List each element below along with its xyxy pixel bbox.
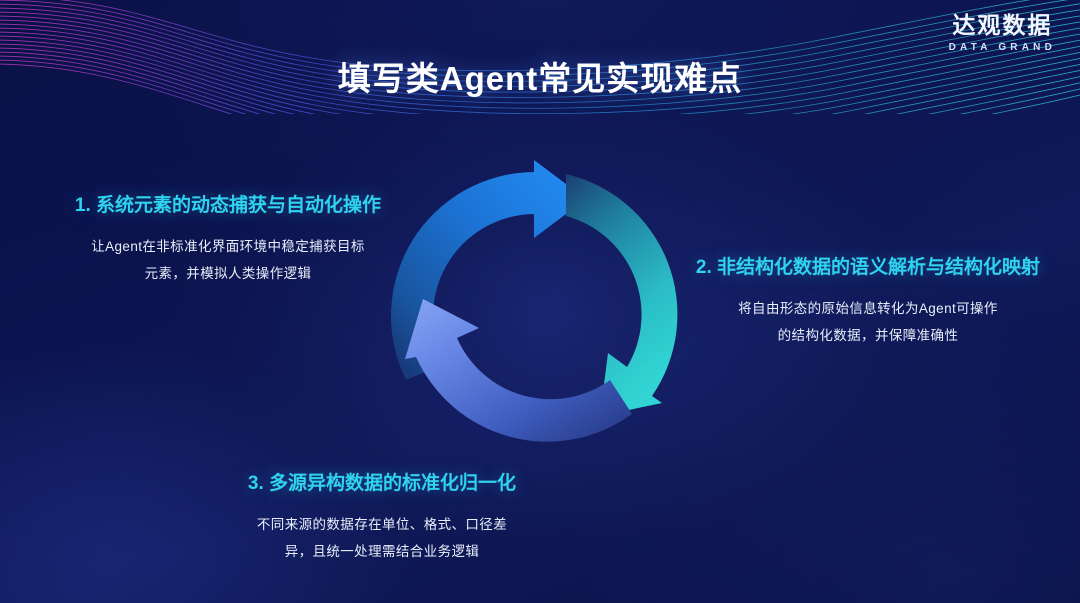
- difficulty-2-body-line-1: 将自由形态的原始信息转化为Agent可操作: [702, 295, 1034, 322]
- cycle-diagram: [386, 152, 706, 472]
- difficulty-block-3: 3. 多源异构数据的标准化归一化 不同来源的数据存在单位、格式、口径差 异，且统…: [188, 468, 576, 565]
- difficulty-1-heading: 1. 系统元素的动态捕获与自动化操作: [38, 190, 418, 217]
- difficulty-1-body: 让Agent在非标准化界面环境中稳定捕获目标 元素，并模拟人类操作逻辑: [38, 233, 418, 287]
- difficulty-2-body-line-2: 的结构化数据，并保障准确性: [702, 322, 1034, 349]
- difficulty-3-body-line-2: 异，且统一处理需结合业务逻辑: [230, 538, 534, 565]
- difficulty-block-1: 1. 系统元素的动态捕获与自动化操作 让Agent在非标准化界面环境中稳定捕获目…: [38, 190, 418, 287]
- difficulty-3-heading: 3. 多源异构数据的标准化归一化: [188, 468, 576, 495]
- difficulty-3-body-line-1: 不同来源的数据存在单位、格式、口径差: [230, 511, 534, 538]
- difficulty-block-2: 2. 非结构化数据的语义解析与结构化映射 将自由形态的原始信息转化为Agent可…: [668, 252, 1068, 349]
- difficulty-1-body-line-1: 让Agent在非标准化界面环境中稳定捕获目标: [74, 233, 382, 260]
- difficulty-2-body: 将自由形态的原始信息转化为Agent可操作 的结构化数据，并保障准确性: [668, 295, 1068, 349]
- difficulty-1-body-line-2: 元素，并模拟人类操作逻辑: [74, 260, 382, 287]
- page-title: 填写类Agent常见实现难点: [0, 52, 1080, 100]
- difficulty-2-heading: 2. 非结构化数据的语义解析与结构化映射: [668, 252, 1068, 279]
- brand-logo: 达观数据 DATA GRAND: [949, 14, 1056, 53]
- slide-root: 达观数据 DATA GRAND 填写类Agent常见实现难点: [0, 0, 1080, 603]
- brand-name-cn: 达观数据: [949, 14, 1056, 37]
- difficulty-3-body: 不同来源的数据存在单位、格式、口径差 异，且统一处理需结合业务逻辑: [188, 511, 576, 565]
